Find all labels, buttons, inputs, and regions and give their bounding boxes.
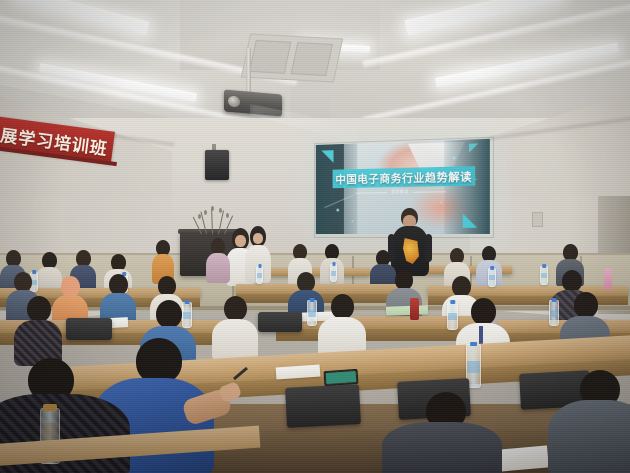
water-bottle xyxy=(540,266,548,285)
attendee-seated xyxy=(212,296,258,358)
pink-bottle xyxy=(604,268,612,290)
conference-room-photo: 展学习培训班 中国电子商务行业趋势解读 趋势解读 xyxy=(0,0,630,473)
chair xyxy=(66,318,112,340)
chair xyxy=(258,312,302,332)
attendee-foreground-right xyxy=(382,414,502,473)
water-bottle xyxy=(256,266,263,284)
ceiling xyxy=(0,0,630,132)
attendee-seated xyxy=(206,238,230,282)
paper-sheet-green xyxy=(386,305,428,315)
water-bottle xyxy=(330,264,337,282)
red-thermos xyxy=(410,298,419,320)
attendee-seated xyxy=(14,296,62,364)
water-bottle xyxy=(549,300,559,326)
water-bottle xyxy=(307,300,317,326)
projector-lens-icon xyxy=(228,95,240,107)
attendee-foreground-far-right xyxy=(548,390,630,473)
air-conditioner-vent xyxy=(241,34,343,83)
projector-mount-pole xyxy=(246,48,251,96)
attendee-seated xyxy=(318,294,366,358)
wall-speaker-icon xyxy=(205,150,229,180)
water-bottle xyxy=(488,268,496,287)
desk-front-panel xyxy=(276,329,476,341)
wall-switch-plate xyxy=(532,212,543,227)
plant-arrangement xyxy=(196,206,230,234)
chair xyxy=(285,384,361,428)
